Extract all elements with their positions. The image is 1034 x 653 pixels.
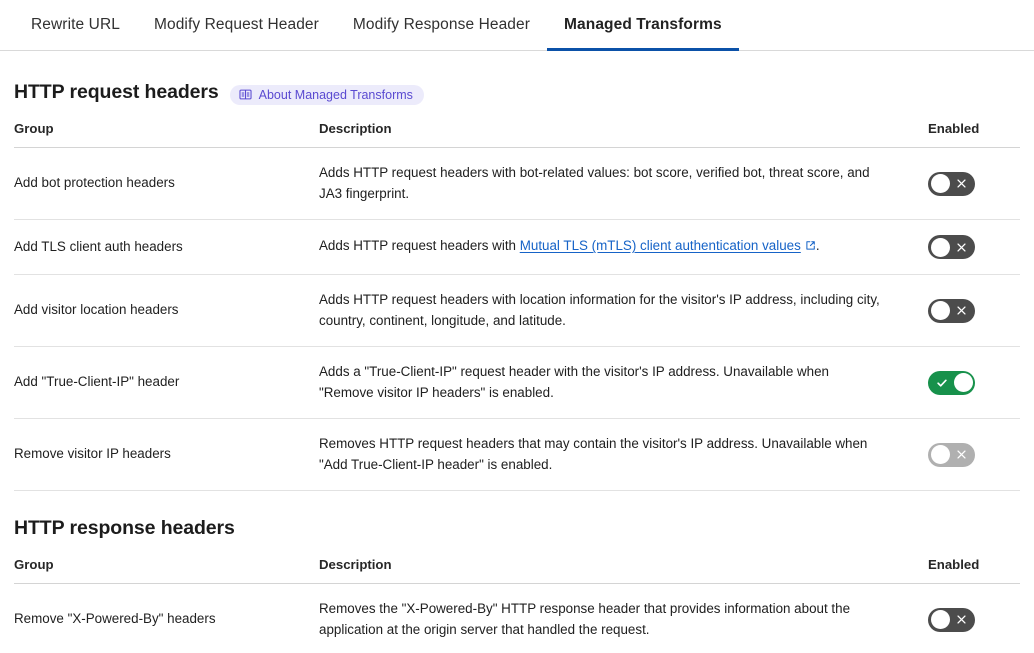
managed-transforms-request-table: Group Description Enabled Add bot protec… — [14, 121, 1020, 491]
toggle-knob — [931, 445, 950, 464]
page-title-request: HTTP request headers — [14, 81, 219, 104]
row-group-name: Add TLS client auth headers — [14, 220, 319, 275]
row-description: Adds HTTP request headers with location … — [319, 275, 924, 347]
row-description: Removes HTTP request headers that may co… — [319, 419, 924, 491]
x-icon — [955, 443, 968, 467]
column-header-description: Description — [319, 121, 924, 148]
toggle-knob — [931, 238, 950, 257]
column-header-group: Group — [14, 121, 319, 148]
page-title-response: HTTP response headers — [14, 517, 235, 540]
x-icon — [955, 608, 968, 632]
row-group-name: Add "True-Client-IP" header — [14, 347, 319, 419]
row-description: Removes the "X-Powered-By" HTTP response… — [319, 584, 924, 653]
description-suffix: . — [816, 238, 820, 253]
enabled-toggle[interactable] — [928, 172, 975, 196]
row-enabled-cell — [924, 148, 1020, 220]
column-header-enabled: Enabled — [924, 557, 1020, 584]
row-description: Adds HTTP request headers with bot-relat… — [319, 148, 924, 220]
row-group-name: Remove "X-Powered-By" headers — [14, 584, 319, 653]
table-row: Add bot protection headersAdds HTTP requ… — [14, 148, 1020, 220]
x-icon — [955, 172, 968, 196]
toggle-knob — [931, 301, 950, 320]
managed-transforms-response-table: Group Description Enabled Remove "X-Powe… — [14, 557, 1020, 653]
table-row: Add TLS client auth headersAdds HTTP req… — [14, 220, 1020, 275]
row-description: Adds HTTP request headers with Mutual TL… — [319, 220, 924, 275]
row-group-name: Remove visitor IP headers — [14, 419, 319, 491]
x-icon — [955, 235, 968, 259]
tab-modify-response-header[interactable]: Modify Response Header — [336, 0, 547, 50]
table-row: Add visitor location headersAdds HTTP re… — [14, 275, 1020, 347]
toggle-knob — [931, 610, 950, 629]
mtls-documentation-link[interactable]: Mutual TLS (mTLS) client authentication … — [520, 238, 801, 253]
about-managed-transforms-badge[interactable]: About Managed Transforms — [230, 85, 424, 105]
tab-modify-request-header[interactable]: Modify Request Header — [137, 0, 336, 50]
enabled-toggle — [928, 443, 975, 467]
row-enabled-cell — [924, 220, 1020, 275]
description-text: Adds HTTP request headers with — [319, 238, 520, 253]
table-row: Remove "X-Powered-By" headersRemoves the… — [14, 584, 1020, 653]
column-header-description: Description — [319, 557, 924, 584]
external-link-icon[interactable] — [805, 237, 816, 258]
tab-rewrite-url[interactable]: Rewrite URL — [14, 0, 137, 50]
row-group-name: Add visitor location headers — [14, 275, 319, 347]
enabled-toggle[interactable] — [928, 371, 975, 395]
row-description: Adds a "True-Client-IP" request header w… — [319, 347, 924, 419]
column-header-group: Group — [14, 557, 319, 584]
enabled-toggle[interactable] — [928, 608, 975, 632]
toggle-knob — [931, 174, 950, 193]
column-header-enabled: Enabled — [924, 121, 1020, 148]
check-icon — [935, 371, 948, 395]
section-http-response-headers: HTTP response headers Group Description … — [0, 491, 1034, 653]
x-icon — [955, 299, 968, 323]
book-icon — [239, 88, 252, 101]
tab-bar: Rewrite URLModify Request HeaderModify R… — [0, 0, 1034, 51]
row-enabled-cell — [924, 419, 1020, 491]
table-row: Remove visitor IP headersRemoves HTTP re… — [14, 419, 1020, 491]
table-header-row: Group Description Enabled — [14, 557, 1020, 584]
section-header: HTTP request headers About Managed Trans… — [14, 51, 1020, 104]
table-header-row: Group Description Enabled — [14, 121, 1020, 148]
about-badge-label: About Managed Transforms — [259, 88, 413, 102]
enabled-toggle[interactable] — [928, 235, 975, 259]
enabled-toggle[interactable] — [928, 299, 975, 323]
section-http-request-headers: HTTP request headers About Managed Trans… — [0, 51, 1034, 491]
row-enabled-cell — [924, 584, 1020, 653]
table-row: Add "True-Client-IP" headerAdds a "True-… — [14, 347, 1020, 419]
row-enabled-cell — [924, 275, 1020, 347]
tab-managed-transforms[interactable]: Managed Transforms — [547, 0, 739, 50]
toggle-knob — [954, 373, 973, 392]
row-group-name: Add bot protection headers — [14, 148, 319, 220]
row-enabled-cell — [924, 347, 1020, 419]
section-header: HTTP response headers — [14, 491, 1020, 540]
